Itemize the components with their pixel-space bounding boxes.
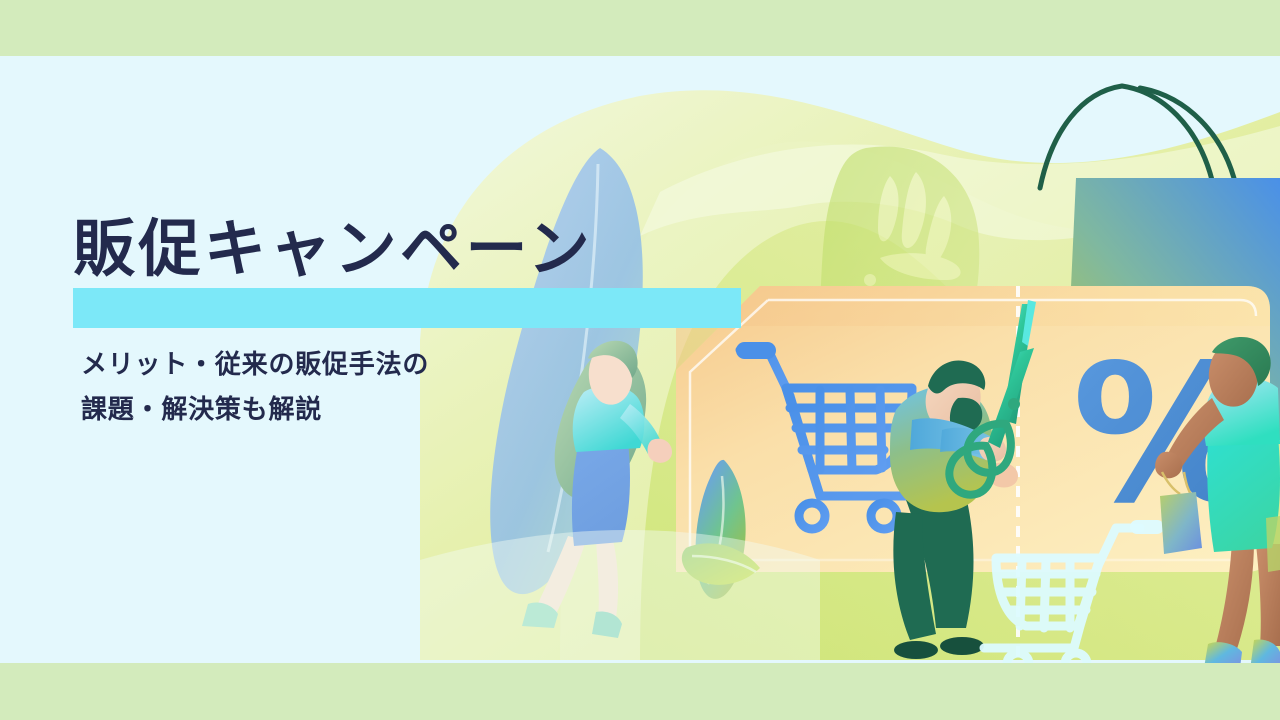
promotion-campaign-banner: % [0,0,1280,720]
page-title: 販促キャンペーン [73,216,593,283]
banner-text-block: 販促キャンペーン メリット・従来の販促手法の 課題・解決策も解説 [73,216,773,434]
page-subtitle: メリット・従来の販促手法の 課題・解決策も解説 [81,343,551,434]
cart-outline-handle [1130,520,1164,534]
bottom-accent-band [0,663,1280,720]
subtitle-line-1: メリット・従来の販促手法の [81,343,551,389]
top-accent-band [0,0,1280,56]
title-wrapper: 販促キャンペーン [73,216,593,283]
subtitle-line-2: 課題・解決策も解説 [81,388,551,434]
title-highlight-bar [73,288,741,328]
